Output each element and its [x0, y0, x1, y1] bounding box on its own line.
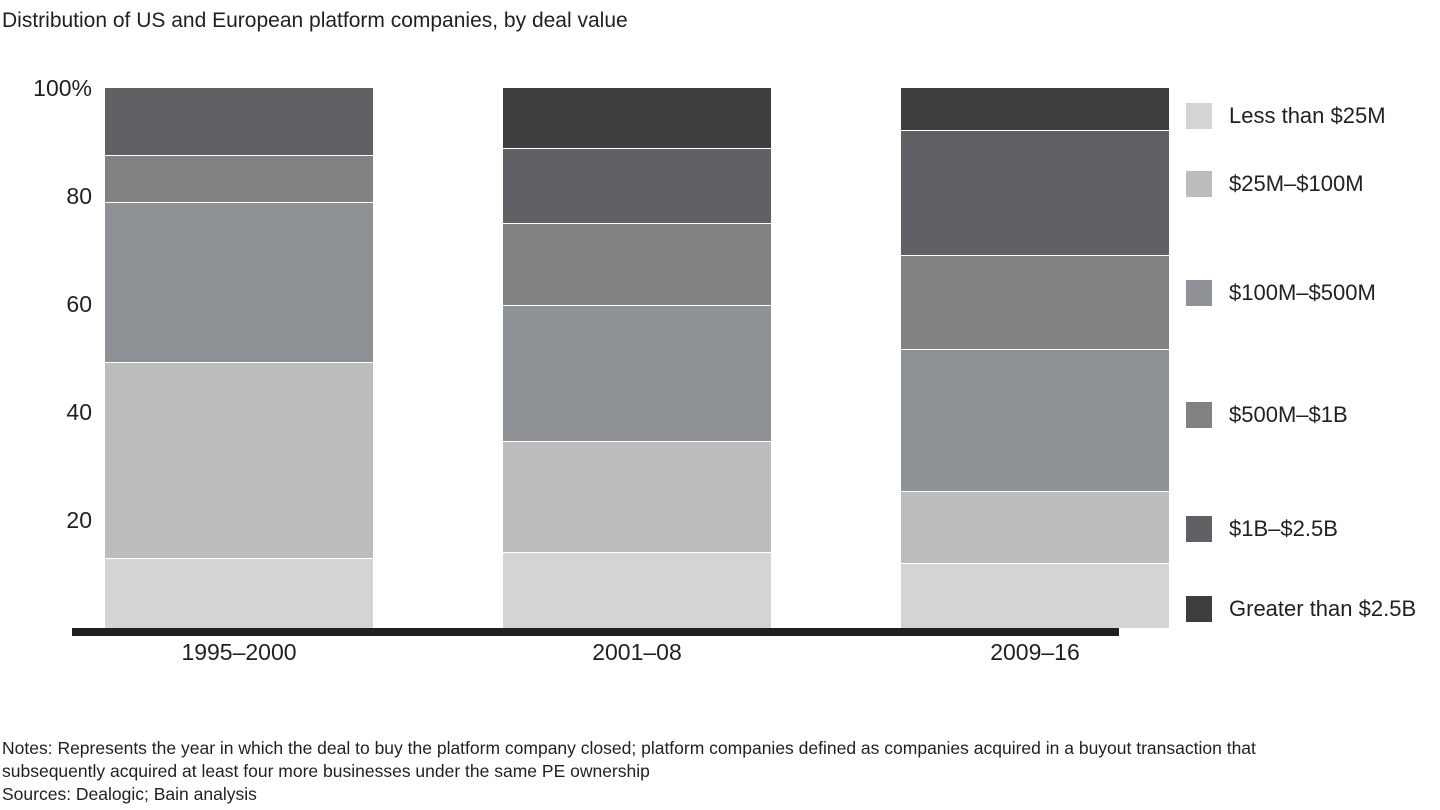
legend-label: Less than $25M: [1229, 103, 1386, 129]
legend-item[interactable]: Less than $25M: [1186, 103, 1386, 129]
bar-segment[interactable]: [503, 223, 771, 305]
legend-swatch-icon: [1186, 516, 1212, 542]
legend-label: $1B–$2.5B: [1229, 516, 1338, 542]
bar-segment[interactable]: [901, 88, 1169, 130]
bar-segment[interactable]: [503, 88, 771, 148]
footnote-notes-line-1: Notes: Represents the year in which the …: [2, 737, 1438, 760]
bar-segment[interactable]: [105, 155, 373, 202]
bar-segment[interactable]: [503, 305, 771, 441]
bar-segment[interactable]: [105, 558, 373, 628]
chart-legend: Less than $25M$25M–$100M$100M–$500M$500M…: [1186, 88, 1440, 628]
footnotes: Notes: Represents the year in which the …: [2, 737, 1438, 806]
legend-swatch-icon: [1186, 402, 1212, 428]
legend-item[interactable]: $500M–$1B: [1186, 402, 1348, 428]
bar-stack: [503, 88, 771, 628]
bar-segment[interactable]: [901, 255, 1169, 349]
bar-segment[interactable]: [901, 491, 1169, 563]
bar-segment[interactable]: [105, 202, 373, 362]
x-axis-category-label: 2009–16: [901, 639, 1169, 665]
bar-segment[interactable]: [105, 88, 373, 155]
bar-segment[interactable]: [901, 130, 1169, 255]
bar-segment[interactable]: [901, 563, 1169, 628]
legend-swatch-icon: [1186, 171, 1212, 197]
bar-segment[interactable]: [503, 148, 771, 223]
legend-item[interactable]: Greater than $2.5B: [1186, 596, 1416, 622]
bar-column[interactable]: [503, 88, 771, 628]
legend-label: $25M–$100M: [1229, 171, 1364, 197]
bar-stack: [901, 88, 1169, 628]
legend-label: $100M–$500M: [1229, 280, 1376, 306]
legend-swatch-icon: [1186, 103, 1212, 129]
bar-segment[interactable]: [503, 552, 771, 628]
legend-swatch-icon: [1186, 280, 1212, 306]
bar-column[interactable]: [105, 88, 373, 628]
x-axis-category-label: 2001–08: [503, 639, 771, 665]
legend-item[interactable]: $1B–$2.5B: [1186, 516, 1338, 542]
legend-item[interactable]: $25M–$100M: [1186, 171, 1364, 197]
x-axis-category-label: 1995–2000: [105, 639, 373, 665]
legend-label: Greater than $2.5B: [1229, 596, 1416, 622]
bar-segment[interactable]: [503, 441, 771, 552]
bar-stack: [105, 88, 373, 628]
legend-item[interactable]: $100M–$500M: [1186, 280, 1376, 306]
bar-segment[interactable]: [901, 349, 1169, 491]
footnote-sources: Sources: Dealogic; Bain analysis: [2, 783, 1438, 806]
bar-segment[interactable]: [105, 362, 373, 558]
legend-label: $500M–$1B: [1229, 402, 1348, 428]
x-axis-baseline: [72, 628, 1119, 636]
bar-column[interactable]: [901, 88, 1169, 628]
legend-swatch-icon: [1186, 596, 1212, 622]
footnote-notes-line-2: subsequently acquired at least four more…: [2, 760, 1438, 783]
